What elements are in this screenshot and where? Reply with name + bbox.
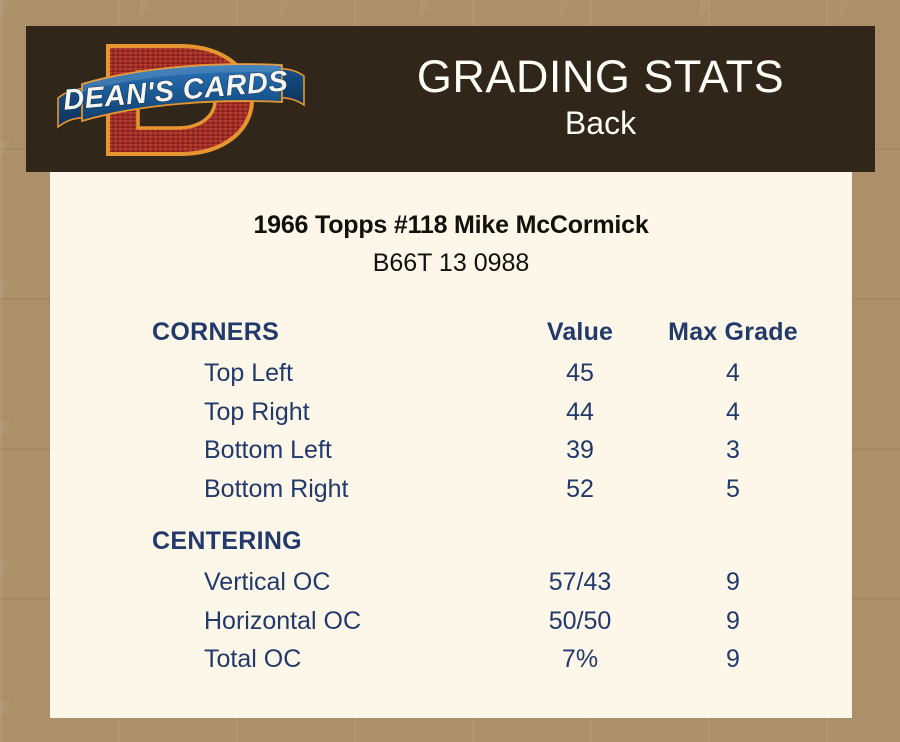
section-title-corners: CORNERS [152, 318, 504, 355]
centering-header-row: CENTERING [152, 527, 810, 564]
row-grade: 4 [656, 355, 810, 394]
row-value: 7% [504, 641, 656, 680]
row-value: 39 [504, 432, 656, 471]
row-label: Vertical OC [152, 564, 504, 603]
card-serial-number: B66T 13 0988 [50, 248, 852, 278]
row-value: 50/50 [504, 603, 656, 642]
column-header-spacer-value [504, 527, 656, 564]
row-label: Horizontal OC [152, 603, 504, 642]
table-row: Top Left 45 4 [152, 355, 810, 394]
table-row: Top Right 44 4 [152, 394, 810, 433]
section-title-centering: CENTERING [152, 527, 504, 564]
deans-cards-logo[interactable]: DEAN'S CARDS [52, 32, 310, 166]
row-value: 57/43 [504, 564, 656, 603]
table-row: Bottom Right 52 5 [152, 471, 810, 510]
grading-stats: CORNERS Value Max Grade Top Left 45 4 To… [50, 318, 852, 680]
row-grade: 3 [656, 432, 810, 471]
row-value: 52 [504, 471, 656, 510]
row-label: Top Left [152, 355, 504, 394]
page-subtitle: Back [565, 103, 636, 145]
row-grade: 4 [656, 394, 810, 433]
column-header-spacer-grade [656, 527, 810, 564]
report-panel: 1966 Topps #118 Mike McCormick B66T 13 0… [50, 172, 852, 718]
row-grade: 9 [656, 603, 810, 642]
row-label: Bottom Left [152, 432, 504, 471]
column-header-max-grade: Max Grade [656, 318, 810, 355]
logo-artwork: DEAN'S CARDS [52, 32, 310, 166]
row-label: Top Right [152, 394, 504, 433]
table-row: Bottom Left 39 3 [152, 432, 810, 471]
column-header-value: Value [504, 318, 656, 355]
row-value: 45 [504, 355, 656, 394]
corners-table: CORNERS Value Max Grade Top Left 45 4 To… [152, 318, 810, 509]
table-row: Total OC 7% 9 [152, 641, 810, 680]
header-title-group: GRADING STATS Back [326, 26, 875, 172]
row-grade: 5 [656, 471, 810, 510]
table-row: Horizontal OC 50/50 9 [152, 603, 810, 642]
row-grade: 9 [656, 641, 810, 680]
row-value: 44 [504, 394, 656, 433]
header-bar: DEAN'S CARDS GRADING STATS Back [26, 26, 875, 172]
table-row: Vertical OC 57/43 9 [152, 564, 810, 603]
card-title: 1966 Topps #118 Mike McCormick [50, 172, 852, 240]
row-label: Total OC [152, 641, 504, 680]
row-label: Bottom Right [152, 471, 504, 510]
page-title: GRADING STATS [417, 53, 784, 101]
corners-header-row: CORNERS Value Max Grade [152, 318, 810, 355]
row-grade: 9 [656, 564, 810, 603]
centering-table: CENTERING Vertical OC 57/43 9 Horizontal… [152, 527, 810, 680]
